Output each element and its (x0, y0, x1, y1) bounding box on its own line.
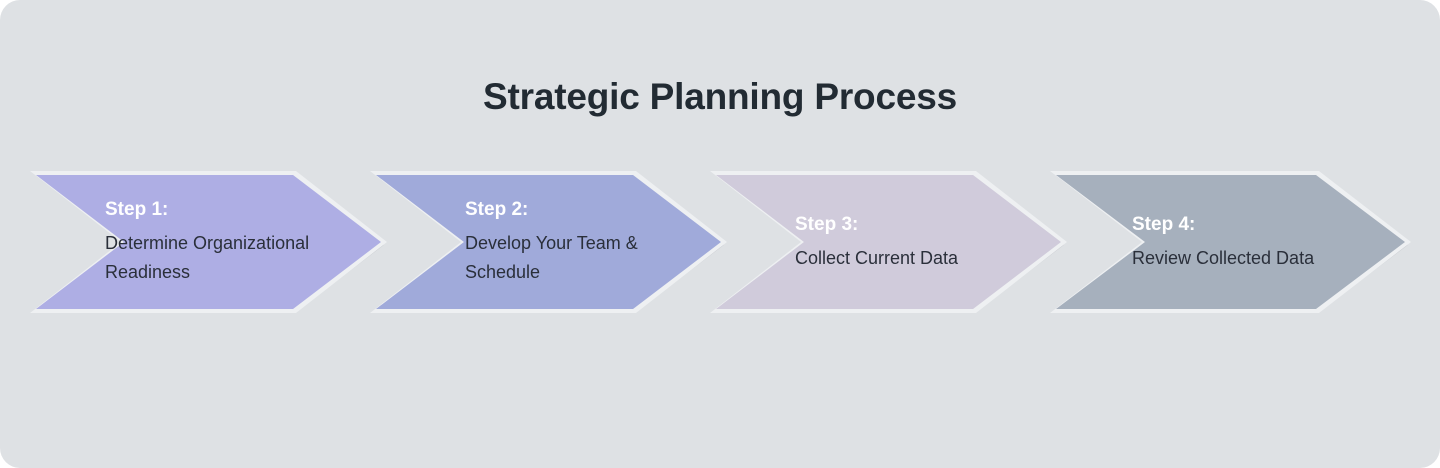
diagram-card: Strategic Planning Process Step 1: Deter… (0, 0, 1440, 468)
chevron-step-4[interactable] (1056, 175, 1405, 309)
chevron-step-2[interactable] (376, 175, 721, 309)
process-flow-diagram: Step 1: Determine Organizational Readine… (0, 175, 1440, 309)
screenshot-canvas: Strategic Planning Process Step 1: Deter… (0, 0, 1440, 468)
page-title: Strategic Planning Process (0, 74, 1440, 120)
chevron-step-1[interactable] (36, 175, 381, 309)
chevron-step-3[interactable] (716, 175, 1061, 309)
